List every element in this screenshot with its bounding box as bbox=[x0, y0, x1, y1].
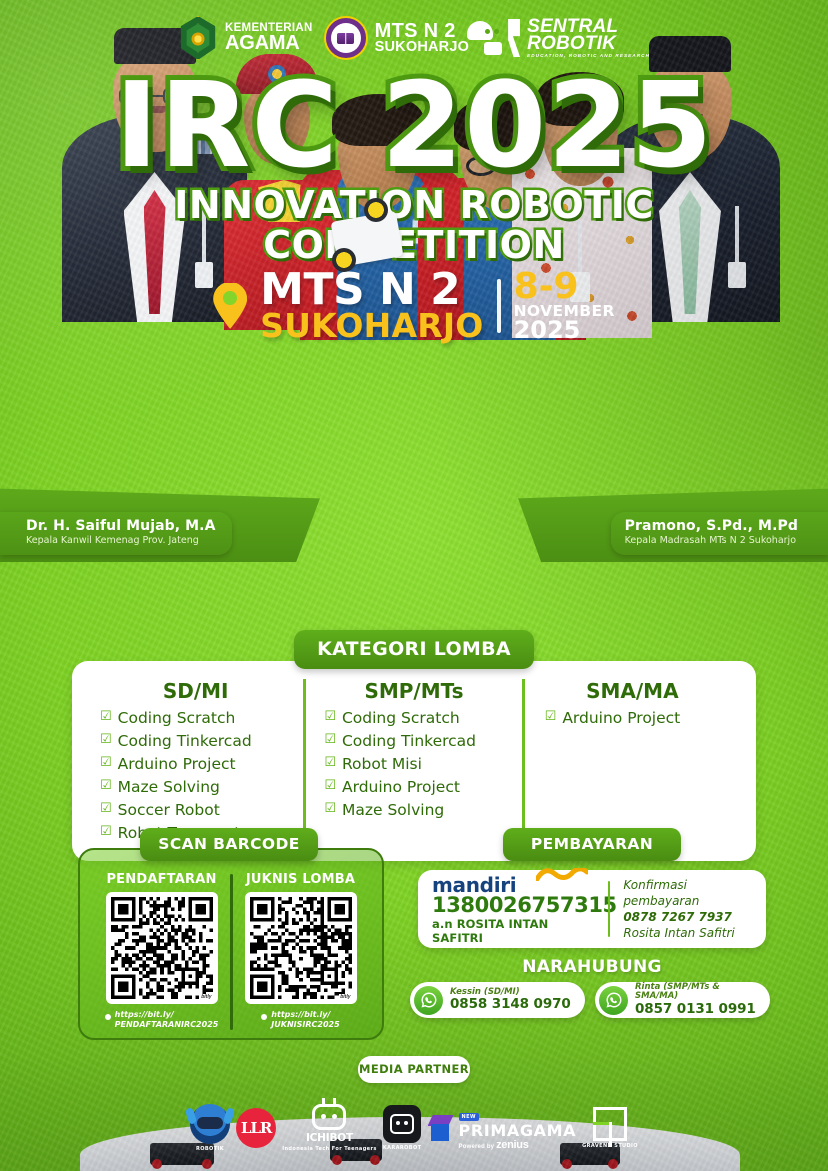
list-item: ☑Maze Solving bbox=[100, 776, 297, 799]
mts-seal-icon bbox=[324, 16, 368, 60]
ichibot-robot-icon bbox=[312, 1104, 346, 1130]
venue-date-divider bbox=[497, 279, 501, 333]
list-item: ☑Coding Scratch bbox=[324, 707, 515, 730]
contacts-row: Kessin (SD/MI) 0858 3148 0970 Rinta (SMP… bbox=[410, 982, 770, 1018]
check-icon: ☑ bbox=[324, 730, 336, 751]
official-name: Dr. H. Saiful Mujab, M.A bbox=[26, 519, 216, 534]
qr-watermark: bitly bbox=[339, 994, 351, 1000]
contact-phone: 0858 3148 0970 bbox=[450, 997, 571, 1013]
bank-account-number: 1380026757315 bbox=[432, 895, 602, 916]
check-icon: ☑ bbox=[100, 799, 112, 820]
confirm-name: Rosita Intan Safitri bbox=[623, 925, 756, 941]
qr-code-pendaftaran[interactable]: bitly bbox=[106, 892, 218, 1004]
categories-section: KATEGORI LOMBA SD/MI ☑Coding Scratch ☑Co… bbox=[72, 630, 756, 861]
list-item: ☑Arduino Project bbox=[545, 707, 734, 730]
category-title: SMA/MA bbox=[531, 679, 734, 703]
category-item-label: Arduino Project bbox=[562, 707, 680, 730]
contact-kessin[interactable]: Kessin (SD/MI) 0858 3148 0970 bbox=[410, 982, 585, 1018]
category-item-label: Arduino Project bbox=[118, 753, 236, 776]
logo-kemenag: KEMENTERIAN AGAMA bbox=[178, 16, 313, 60]
partner-badge: NEW bbox=[459, 1113, 479, 1121]
category-item-label: Coding Scratch bbox=[118, 707, 236, 730]
partner-powered-label: Powered by bbox=[459, 1144, 495, 1150]
category-title: SD/MI bbox=[94, 679, 297, 703]
partner-label: ROBOTIK bbox=[196, 1146, 224, 1152]
partner-label: PRIMAGAMA bbox=[459, 1123, 577, 1139]
check-icon: ☑ bbox=[324, 776, 336, 797]
check-icon: ☑ bbox=[100, 776, 112, 797]
category-item-label: Coding Scratch bbox=[342, 707, 460, 730]
list-item: ☑Coding Scratch bbox=[100, 707, 297, 730]
list-item: ☑Arduino Project bbox=[324, 776, 515, 799]
logo-mts-n-2-sukoharjo: MTS N 2 SUKOHARJO bbox=[324, 16, 469, 60]
hero-block: IRC 2025 INNOVATION ROBOTIC COMPETITION bbox=[0, 66, 828, 264]
check-icon: ☑ bbox=[100, 753, 112, 774]
categories-heading: KATEGORI LOMBA bbox=[294, 630, 534, 669]
venue-date-bar: MTS N 2 SUKOHARJO 8-9 NOVEMBER 2025 bbox=[0, 270, 828, 342]
robot-mascot-icon bbox=[190, 1104, 230, 1144]
category-item-label: Robot Misi bbox=[342, 753, 422, 776]
partner-label: KARAROBOT bbox=[383, 1145, 422, 1151]
payment-divider bbox=[608, 881, 610, 937]
partner-kararobot: KARAROBOT bbox=[383, 1105, 422, 1151]
partner-label: ICHIBOT bbox=[306, 1132, 353, 1144]
kararobot-icon bbox=[383, 1105, 421, 1143]
list-item: ☑Arduino Project bbox=[100, 753, 297, 776]
check-icon: ☑ bbox=[545, 707, 557, 728]
qr-watermark: bitly bbox=[200, 994, 212, 1000]
list-item: ☑Coding Tinkercad bbox=[100, 730, 297, 753]
category-list: ☑Coding Scratch ☑Coding Tinkercad ☑Robot… bbox=[312, 707, 515, 822]
robot-part-in-hands bbox=[330, 198, 414, 276]
category-item-label: Maze Solving bbox=[342, 799, 444, 822]
gravend-g-icon bbox=[593, 1107, 627, 1141]
mandiri-wave-icon bbox=[536, 868, 588, 881]
mts-line1: MTS N 2 bbox=[375, 22, 469, 41]
category-list: ☑Arduino Project bbox=[531, 707, 734, 730]
bullet-icon bbox=[105, 1014, 111, 1020]
barcode-item-pendaftaran[interactable]: PENDAFTARAN bitly https://bit.ly/PENDAFT… bbox=[92, 872, 231, 1028]
barcode-card: PENDAFTARAN bitly https://bit.ly/PENDAFT… bbox=[78, 848, 384, 1040]
category-list: ☑Coding Scratch ☑Coding Tinkercad ☑Ardui… bbox=[94, 707, 297, 845]
logo-sentral-robotik: SENTRAL ROBOTIK EDUCATION, ROBOTIC AND R… bbox=[480, 18, 650, 58]
url-line1: https://bit.ly/ bbox=[115, 1010, 174, 1019]
url-line1: https://bit.ly/ bbox=[271, 1010, 330, 1019]
event-subtitle-line2: COMPETITION bbox=[0, 226, 828, 264]
list-item: ☑Soccer Robot bbox=[100, 799, 297, 822]
check-icon: ☑ bbox=[100, 730, 112, 751]
category-item-label: Soccer Robot bbox=[118, 799, 220, 822]
barcode-label: JUKNIS LOMBA bbox=[231, 872, 370, 887]
official-name-plaque-left: Dr. H. Saiful Mujab, M.A Kepala Kanwil K… bbox=[0, 512, 232, 555]
qr-code-juknis[interactable]: bitly bbox=[245, 892, 357, 1004]
event-title: IRC 2025 bbox=[0, 66, 828, 184]
category-item-label: Coding Tinkercad bbox=[118, 730, 252, 753]
location-pin-icon bbox=[213, 283, 247, 329]
official-name-plaque-right: Pramono, S.Pd., M.Pd Kepala Madrasah MTs… bbox=[611, 512, 828, 555]
url-line2: PENDAFTARANIRC2025 bbox=[115, 1020, 219, 1029]
sentral-robotik-robot-icon bbox=[480, 18, 520, 58]
barcode-item-juknis[interactable]: JUKNIS LOMBA bitly https://bit.ly/JUKNIS… bbox=[231, 872, 370, 1028]
whatsapp-icon bbox=[414, 986, 443, 1015]
partner-gravend-studio: GRAVEND STUDIO bbox=[582, 1107, 638, 1149]
barcode-heading-wrap: SCAN BARCODE bbox=[140, 828, 318, 861]
payment-confirmation: Konfirmasi pembayaran 0878 7267 7937 Ros… bbox=[623, 877, 756, 941]
contact-rinta[interactable]: Rinta (SMP/MTs & SMA/MA) 0857 0131 0991 bbox=[595, 982, 770, 1018]
contact-label: Rinta (SMP/MTs & SMA/MA) bbox=[635, 983, 760, 1002]
partner-llr: LLR bbox=[236, 1108, 276, 1148]
llr-logo-icon: LLR bbox=[236, 1108, 276, 1148]
poster-canvas: KEMENTERIAN AGAMA MTS N 2 SUKOHARJO SENT… bbox=[0, 0, 828, 1171]
primagama-book-icon bbox=[428, 1115, 454, 1141]
media-partner-logos: ROBOTIK LLR ICHIBOT Indonesia Tech For T… bbox=[190, 1098, 638, 1158]
official-role: Kepala Madrasah MTs N 2 Sukoharjo bbox=[625, 535, 798, 546]
official-role: Kepala Kanwil Kemenag Prov. Jateng bbox=[26, 535, 216, 546]
venue-name-line1: MTS N 2 bbox=[260, 270, 483, 310]
barcode-heading: SCAN BARCODE bbox=[140, 828, 318, 861]
whatsapp-icon bbox=[599, 986, 628, 1015]
category-column-sma-ma: SMA/MA ☑Arduino Project bbox=[525, 679, 740, 845]
confirm-phone: 0878 7267 7937 bbox=[623, 909, 756, 925]
bank-account-holder: a.n ROSITA INTAN SAFITRI bbox=[432, 917, 602, 945]
list-item: ☑Robot Misi bbox=[324, 753, 515, 776]
sentral-line2: ROBOTIK bbox=[527, 35, 650, 52]
media-partner-heading: MEDIA PARTNER bbox=[358, 1056, 470, 1083]
list-item: ☑Coding Tinkercad bbox=[324, 730, 515, 753]
event-date-day: 8-9 bbox=[514, 270, 615, 304]
list-item: ☑Maze Solving bbox=[324, 799, 515, 822]
header-logo-bar: KEMENTERIAN AGAMA MTS N 2 SUKOHARJO SENT… bbox=[0, 14, 828, 62]
category-column-smp-mts: SMP/MTs ☑Coding Scratch ☑Coding Tinkerca… bbox=[303, 679, 524, 845]
payment-heading: PEMBAYARAN bbox=[503, 828, 681, 861]
check-icon: ☑ bbox=[324, 707, 336, 728]
bank-block: mandiri 1380026757315 a.n ROSITA INTAN S… bbox=[432, 873, 602, 945]
check-icon: ☑ bbox=[324, 799, 336, 820]
partner-ichibot: ICHIBOT Indonesia Tech For Teenagers bbox=[282, 1104, 377, 1152]
category-item-label: Arduino Project bbox=[342, 776, 460, 799]
category-title: SMP/MTs bbox=[312, 679, 515, 703]
payment-card: mandiri 1380026757315 a.n ROSITA INTAN S… bbox=[418, 870, 766, 948]
partner-label: LLR bbox=[241, 1119, 272, 1137]
payment-heading-wrap: PEMBAYARAN bbox=[503, 828, 681, 861]
kemenag-line2: AGAMA bbox=[225, 34, 313, 53]
bank-name: mandiri bbox=[432, 873, 516, 897]
check-icon: ☑ bbox=[324, 753, 336, 774]
partner-primagama-zenius: NEW PRIMAGAMA Powered by zenius bbox=[428, 1105, 577, 1151]
mts-line2: SUKOHARJO bbox=[375, 41, 469, 55]
barcode-url: https://bit.ly/JUKNISIRC2025 bbox=[231, 1010, 370, 1030]
barcode-url: https://bit.ly/PENDAFTARANIRC2025 bbox=[92, 1010, 231, 1030]
official-name: Pramono, S.Pd., M.Pd bbox=[625, 519, 798, 534]
partner-tagline: Indonesia Tech For Teenagers bbox=[282, 1146, 377, 1152]
contact-phone: 0857 0131 0991 bbox=[635, 1002, 760, 1018]
category-item-label: Coding Tinkercad bbox=[342, 730, 476, 753]
venue-name-line2: SUKOHARJO bbox=[260, 311, 483, 341]
category-column-sd-mi: SD/MI ☑Coding Scratch ☑Coding Tinkercad … bbox=[88, 679, 303, 845]
confirm-label: Konfirmasi pembayaran bbox=[623, 877, 756, 909]
url-line2: JUKNISIRC2025 bbox=[271, 1020, 339, 1029]
event-date-year: 2025 bbox=[514, 319, 615, 342]
kemenag-seal-icon bbox=[178, 16, 218, 60]
partner-robot-mascot-blue: ROBOTIK bbox=[190, 1104, 230, 1152]
check-icon: ☑ bbox=[100, 707, 112, 728]
check-icon: ☑ bbox=[100, 822, 112, 843]
contacts-heading: NARAHUBUNG bbox=[418, 957, 766, 977]
bullet-icon bbox=[261, 1014, 267, 1020]
category-item-label: Maze Solving bbox=[118, 776, 220, 799]
partner-brand: zenius bbox=[496, 1139, 528, 1151]
barcode-label: PENDAFTARAN bbox=[92, 872, 231, 887]
